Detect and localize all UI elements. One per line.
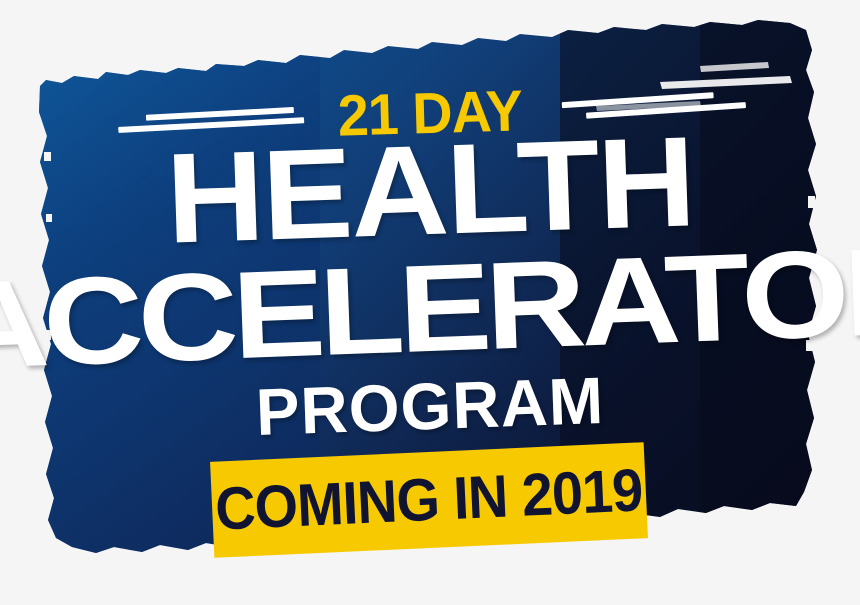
title-graphic-canvas: 21 DAY HEALTH ACCELERATOR PROGRAM COMING… xyxy=(0,0,860,605)
brush-background xyxy=(0,0,860,605)
